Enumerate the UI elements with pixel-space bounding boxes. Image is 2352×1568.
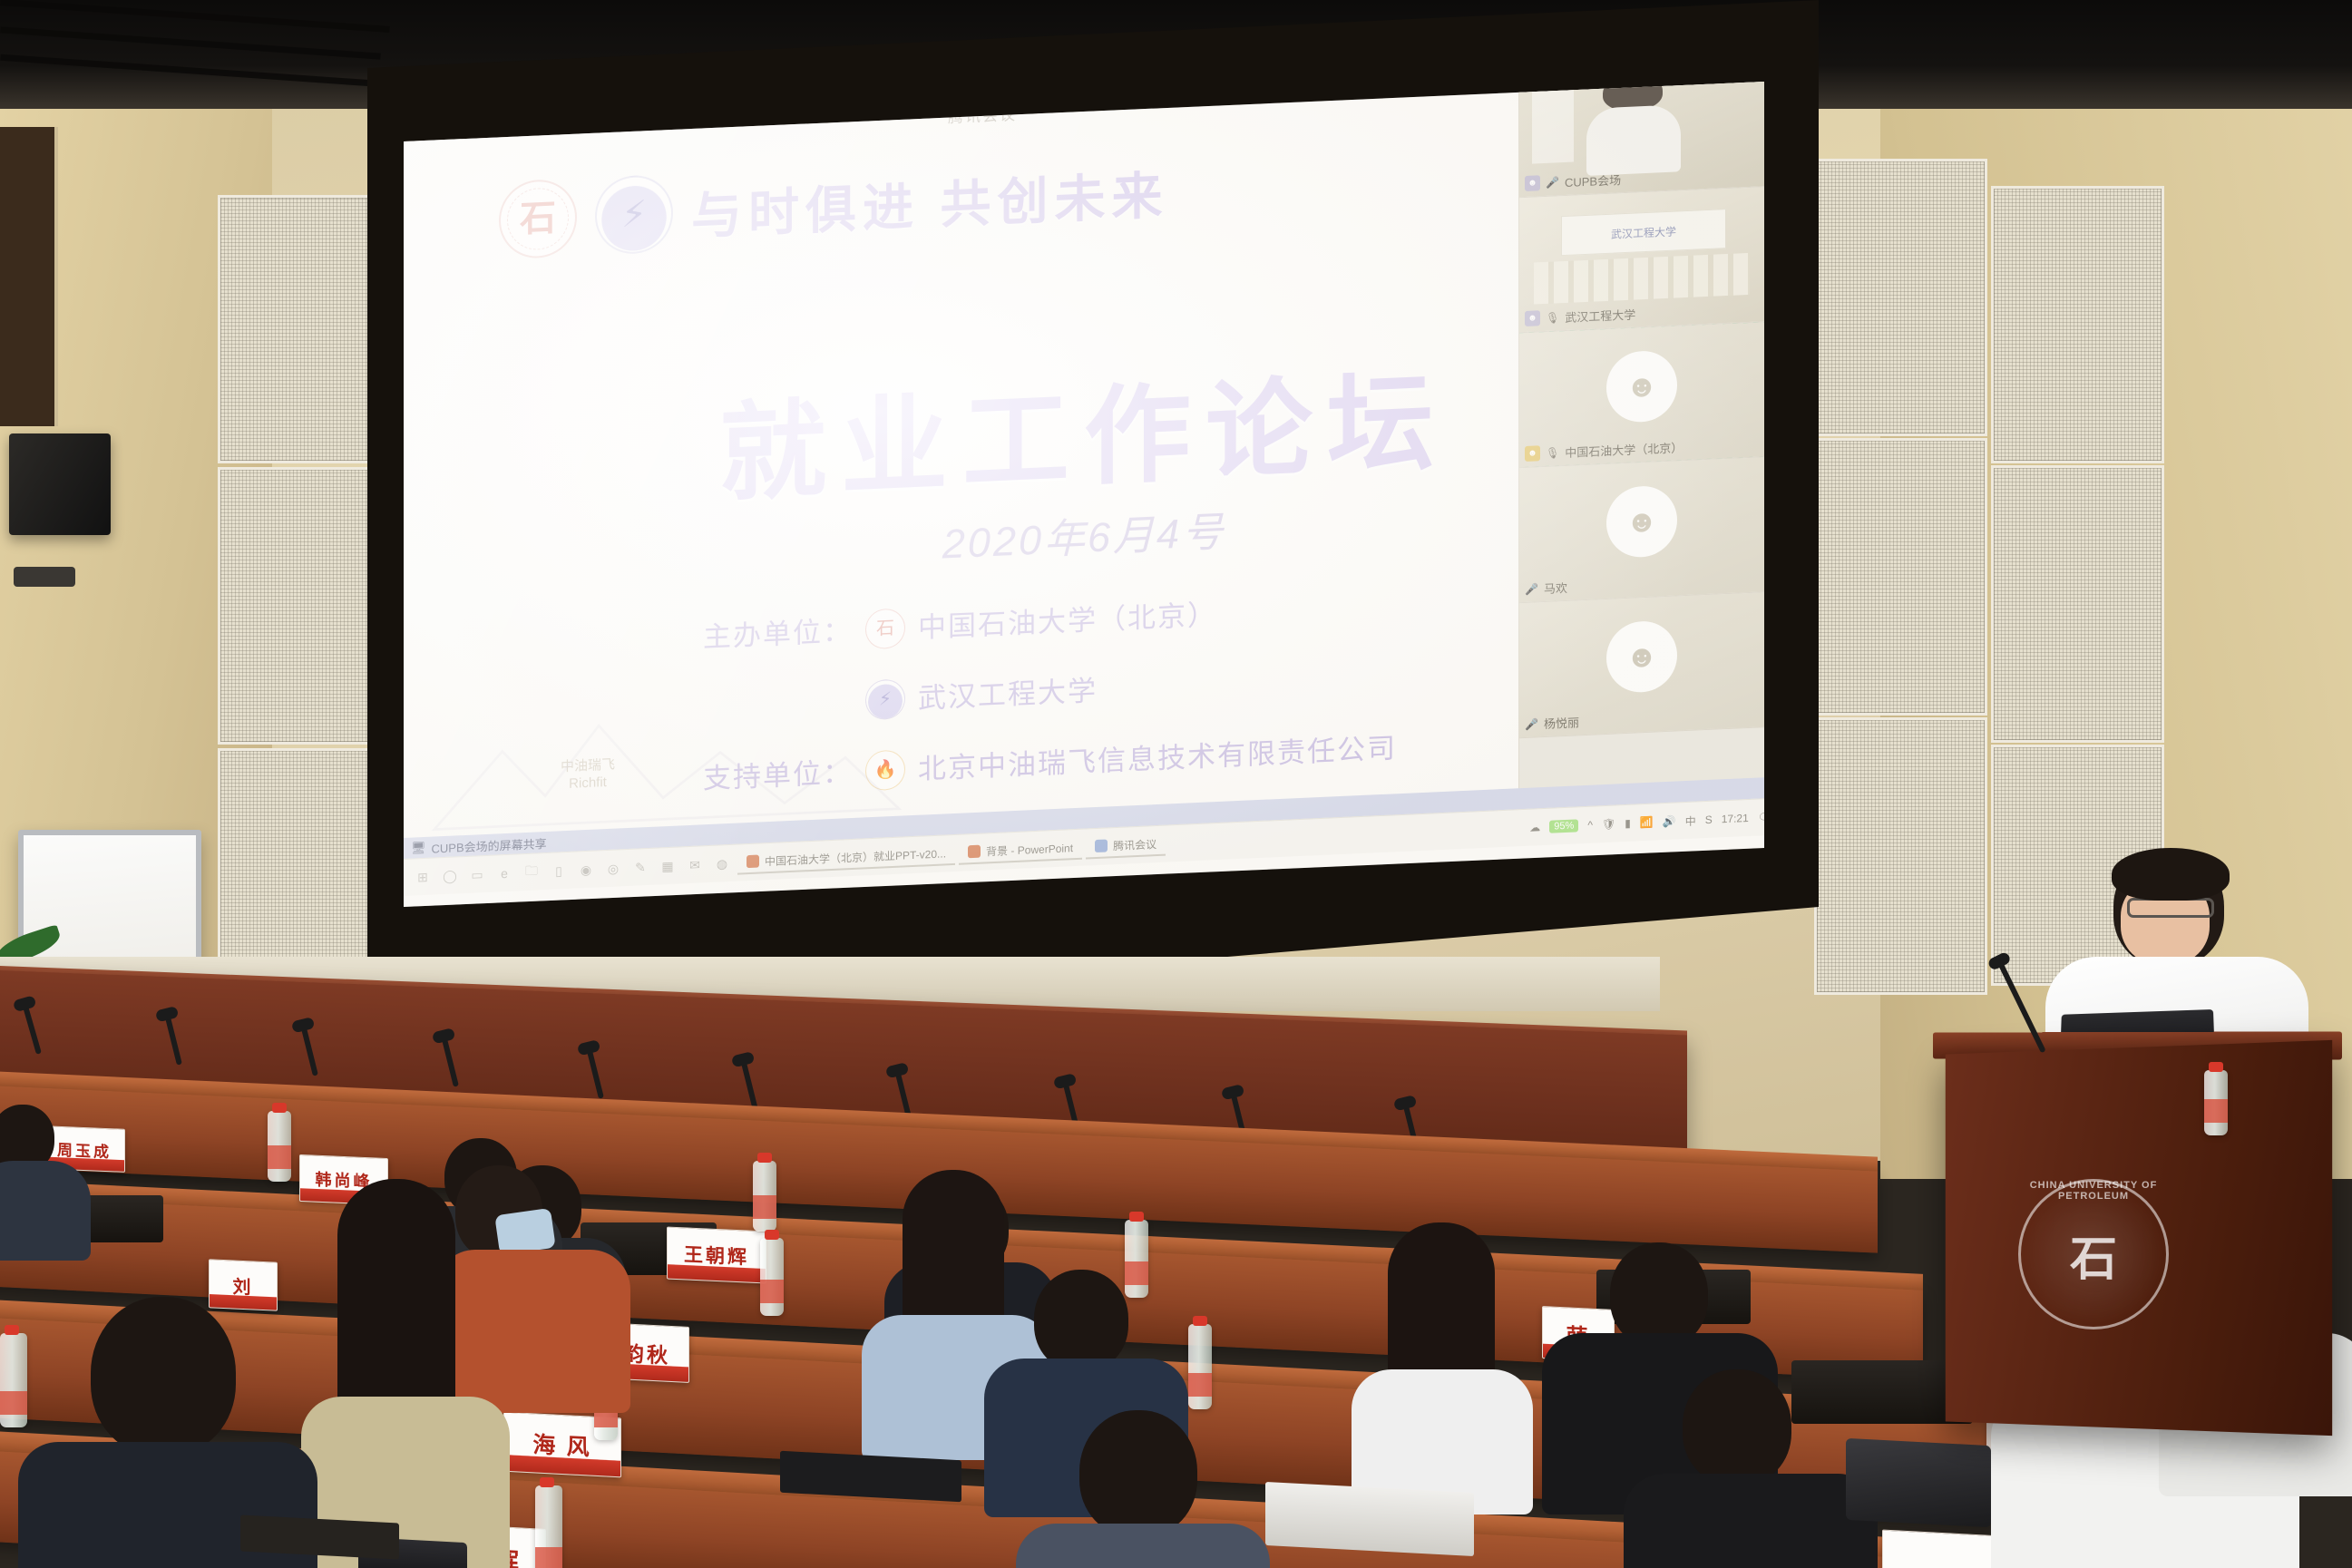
supporter-name: 北京中油瑞飞信息技术有限责任公司 bbox=[918, 734, 1397, 784]
conference-hall-scene: 腾讯会议 石 ⚡ 与时俱进 共创未来 就业工作论坛 2020年6月4号 主办单位… bbox=[0, 0, 2352, 1568]
mic-muted-icon: 🎙 bbox=[1546, 446, 1559, 460]
water-bottle bbox=[535, 1485, 562, 1568]
water-bottle bbox=[760, 1238, 784, 1316]
taskview-icon[interactable]: ▭ bbox=[465, 862, 489, 887]
projection-screen: 腾讯会议 石 ⚡ 与时俱进 共创未来 就业工作论坛 2020年6月4号 主办单位… bbox=[404, 82, 1764, 907]
wall-speaker bbox=[9, 433, 111, 535]
participant-name: 武汉工程大学 bbox=[1565, 306, 1635, 326]
usb-icon[interactable]: ▮ bbox=[1625, 817, 1631, 830]
participant-name-row: 🎤 杨悦丽 bbox=[1525, 713, 1579, 733]
acoustic-panel bbox=[1814, 717, 1987, 995]
battery-indicator[interactable]: 95% bbox=[1549, 819, 1578, 833]
tencent-meeting-icon bbox=[1095, 839, 1108, 852]
mic-icon: 🎤 bbox=[1525, 582, 1538, 596]
host-name: 武汉工程大学 bbox=[918, 676, 1098, 712]
system-tray: ☁ 95% ^ 🛡 ▮ 📶 🔊 中 S 17:21 🗨 bbox=[1529, 809, 1764, 835]
participant-name: 杨悦丽 bbox=[1544, 713, 1579, 732]
meeting-icon[interactable]: ◎ bbox=[601, 856, 625, 881]
mic-icon: 🎤 bbox=[1546, 176, 1559, 190]
participant-tile[interactable]: ☻ 🎤 CUPB会场 bbox=[1519, 82, 1764, 198]
notification-icon[interactable]: 🗨 bbox=[1758, 811, 1764, 824]
organizer-row: 主办单位： 石 中国石油大学（北京） bbox=[703, 586, 1397, 657]
powerpoint-icon bbox=[747, 855, 759, 869]
slide-banner: 石 ⚡ 与时俱进 共创未来 bbox=[499, 151, 1169, 259]
participant-tile[interactable]: ☻ ☻ 🎙 中国石油大学（北京） bbox=[1519, 322, 1764, 468]
chevron-up-icon[interactable]: ^ bbox=[1587, 819, 1593, 832]
ime-icon[interactable]: 中 bbox=[1685, 813, 1696, 829]
participant-tile[interactable]: 武汉工程大学 ☻ 🎙 武汉工程大学 bbox=[1519, 187, 1764, 333]
water-bottle bbox=[753, 1161, 776, 1232]
water-bottle bbox=[2204, 1070, 2228, 1135]
cupb-mini-logo-icon: 石 bbox=[865, 608, 905, 649]
acoustic-panel bbox=[218, 467, 377, 745]
participant-name: 马欢 bbox=[1544, 579, 1567, 597]
taskbar-window[interactable]: 中国石油大学（北京）就业PPT-v20... bbox=[737, 842, 955, 874]
water-bottle bbox=[268, 1111, 291, 1182]
name-placard: 王朝辉 bbox=[667, 1227, 766, 1284]
volume-icon[interactable]: 🔊 bbox=[1663, 815, 1676, 829]
network-icon[interactable]: 📶 bbox=[1640, 816, 1654, 830]
water-bottle bbox=[1188, 1324, 1212, 1409]
participant-tile[interactable]: ☻ 🎤 杨悦丽 bbox=[1519, 592, 1764, 738]
taskbar-window[interactable]: 腾讯会议 bbox=[1086, 833, 1166, 859]
explorer-icon[interactable]: 🗀 bbox=[520, 860, 543, 884]
start-icon[interactable]: ⊞ bbox=[411, 864, 434, 889]
slide-banner-text: 与时俱进 共创未来 bbox=[691, 154, 1169, 248]
clock[interactable]: 17:21 bbox=[1722, 812, 1749, 825]
chrome-icon[interactable]: ◉ bbox=[574, 857, 598, 881]
name-placard bbox=[1882, 1530, 2002, 1568]
cupb-seal-icon: CHINA UNIVERSITY OF PETROLEUM 石 bbox=[2018, 1179, 2169, 1329]
acoustic-panel bbox=[1814, 159, 1987, 436]
cupb-logo-icon: 石 bbox=[499, 178, 577, 259]
store-icon[interactable]: ▦ bbox=[656, 853, 679, 878]
taskbar-window-label: 背景 - PowerPoint bbox=[986, 840, 1073, 859]
water-bottle bbox=[1125, 1220, 1148, 1298]
pdf-icon[interactable]: ▯ bbox=[547, 859, 571, 883]
name-placard: 刘 bbox=[209, 1259, 278, 1310]
wit-logo-icon: ⚡ bbox=[595, 174, 673, 256]
taskbar-window-label: 中国石油大学（北京）就业PPT-v20... bbox=[765, 845, 946, 869]
share-icon: 🖥 bbox=[411, 841, 426, 856]
avatar-badge-icon: ☻ bbox=[1525, 175, 1540, 191]
edge-icon[interactable]: e bbox=[493, 861, 516, 885]
open-laptop bbox=[1265, 1482, 1474, 1556]
ceiling-camera bbox=[14, 567, 75, 587]
water-bottle bbox=[0, 1333, 27, 1427]
note-icon[interactable]: ✎ bbox=[629, 855, 652, 880]
participant-name-row: 🎤 马欢 bbox=[1525, 579, 1567, 598]
hills-watermark-icon bbox=[431, 695, 903, 833]
host-name: 中国石油大学（北京） bbox=[918, 600, 1217, 642]
acoustic-panel bbox=[1814, 438, 1987, 716]
taskbar-window[interactable]: 背景 - PowerPoint bbox=[959, 836, 1082, 864]
host-badge-icon: ☻ bbox=[1525, 445, 1540, 462]
mic-muted-icon: 🎙 bbox=[1546, 311, 1559, 325]
participant-tile[interactable]: ☻ 🎤 马欢 bbox=[1519, 457, 1764, 603]
acoustic-panel bbox=[1991, 465, 2164, 743]
taskbar-window-label: 腾讯会议 bbox=[1113, 836, 1156, 853]
participant-name: CUPB会场 bbox=[1565, 170, 1621, 190]
side-door[interactable] bbox=[0, 127, 58, 426]
office-icon[interactable]: ◍ bbox=[710, 852, 734, 876]
host-label: 主办单位： bbox=[703, 616, 853, 650]
security-icon[interactable]: 🛡 bbox=[1602, 817, 1615, 831]
bag bbox=[1846, 1438, 1991, 1527]
glasses bbox=[2127, 898, 2214, 918]
sogou-icon[interactable]: S bbox=[1705, 813, 1713, 826]
acoustic-panel bbox=[1991, 186, 2164, 463]
acoustic-panel bbox=[218, 195, 377, 463]
avatar-badge-icon: ☻ bbox=[1525, 310, 1540, 326]
mail-icon[interactable]: ✉ bbox=[683, 852, 707, 877]
projected-slide: 腾讯会议 石 ⚡ 与时俱进 共创未来 就业工作论坛 2020年6月4号 主办单位… bbox=[404, 82, 1764, 907]
mic-icon: 🎤 bbox=[1525, 717, 1538, 731]
powerpoint-icon bbox=[968, 845, 981, 859]
cloud-icon[interactable]: ☁ bbox=[1529, 821, 1540, 834]
cortana-icon[interactable]: ◯ bbox=[438, 863, 462, 888]
meeting-participant-sidebar: 正在讲话: 中国石油大学（北京） ☻ 🎤 CUPB会场 bbox=[1518, 82, 1764, 807]
